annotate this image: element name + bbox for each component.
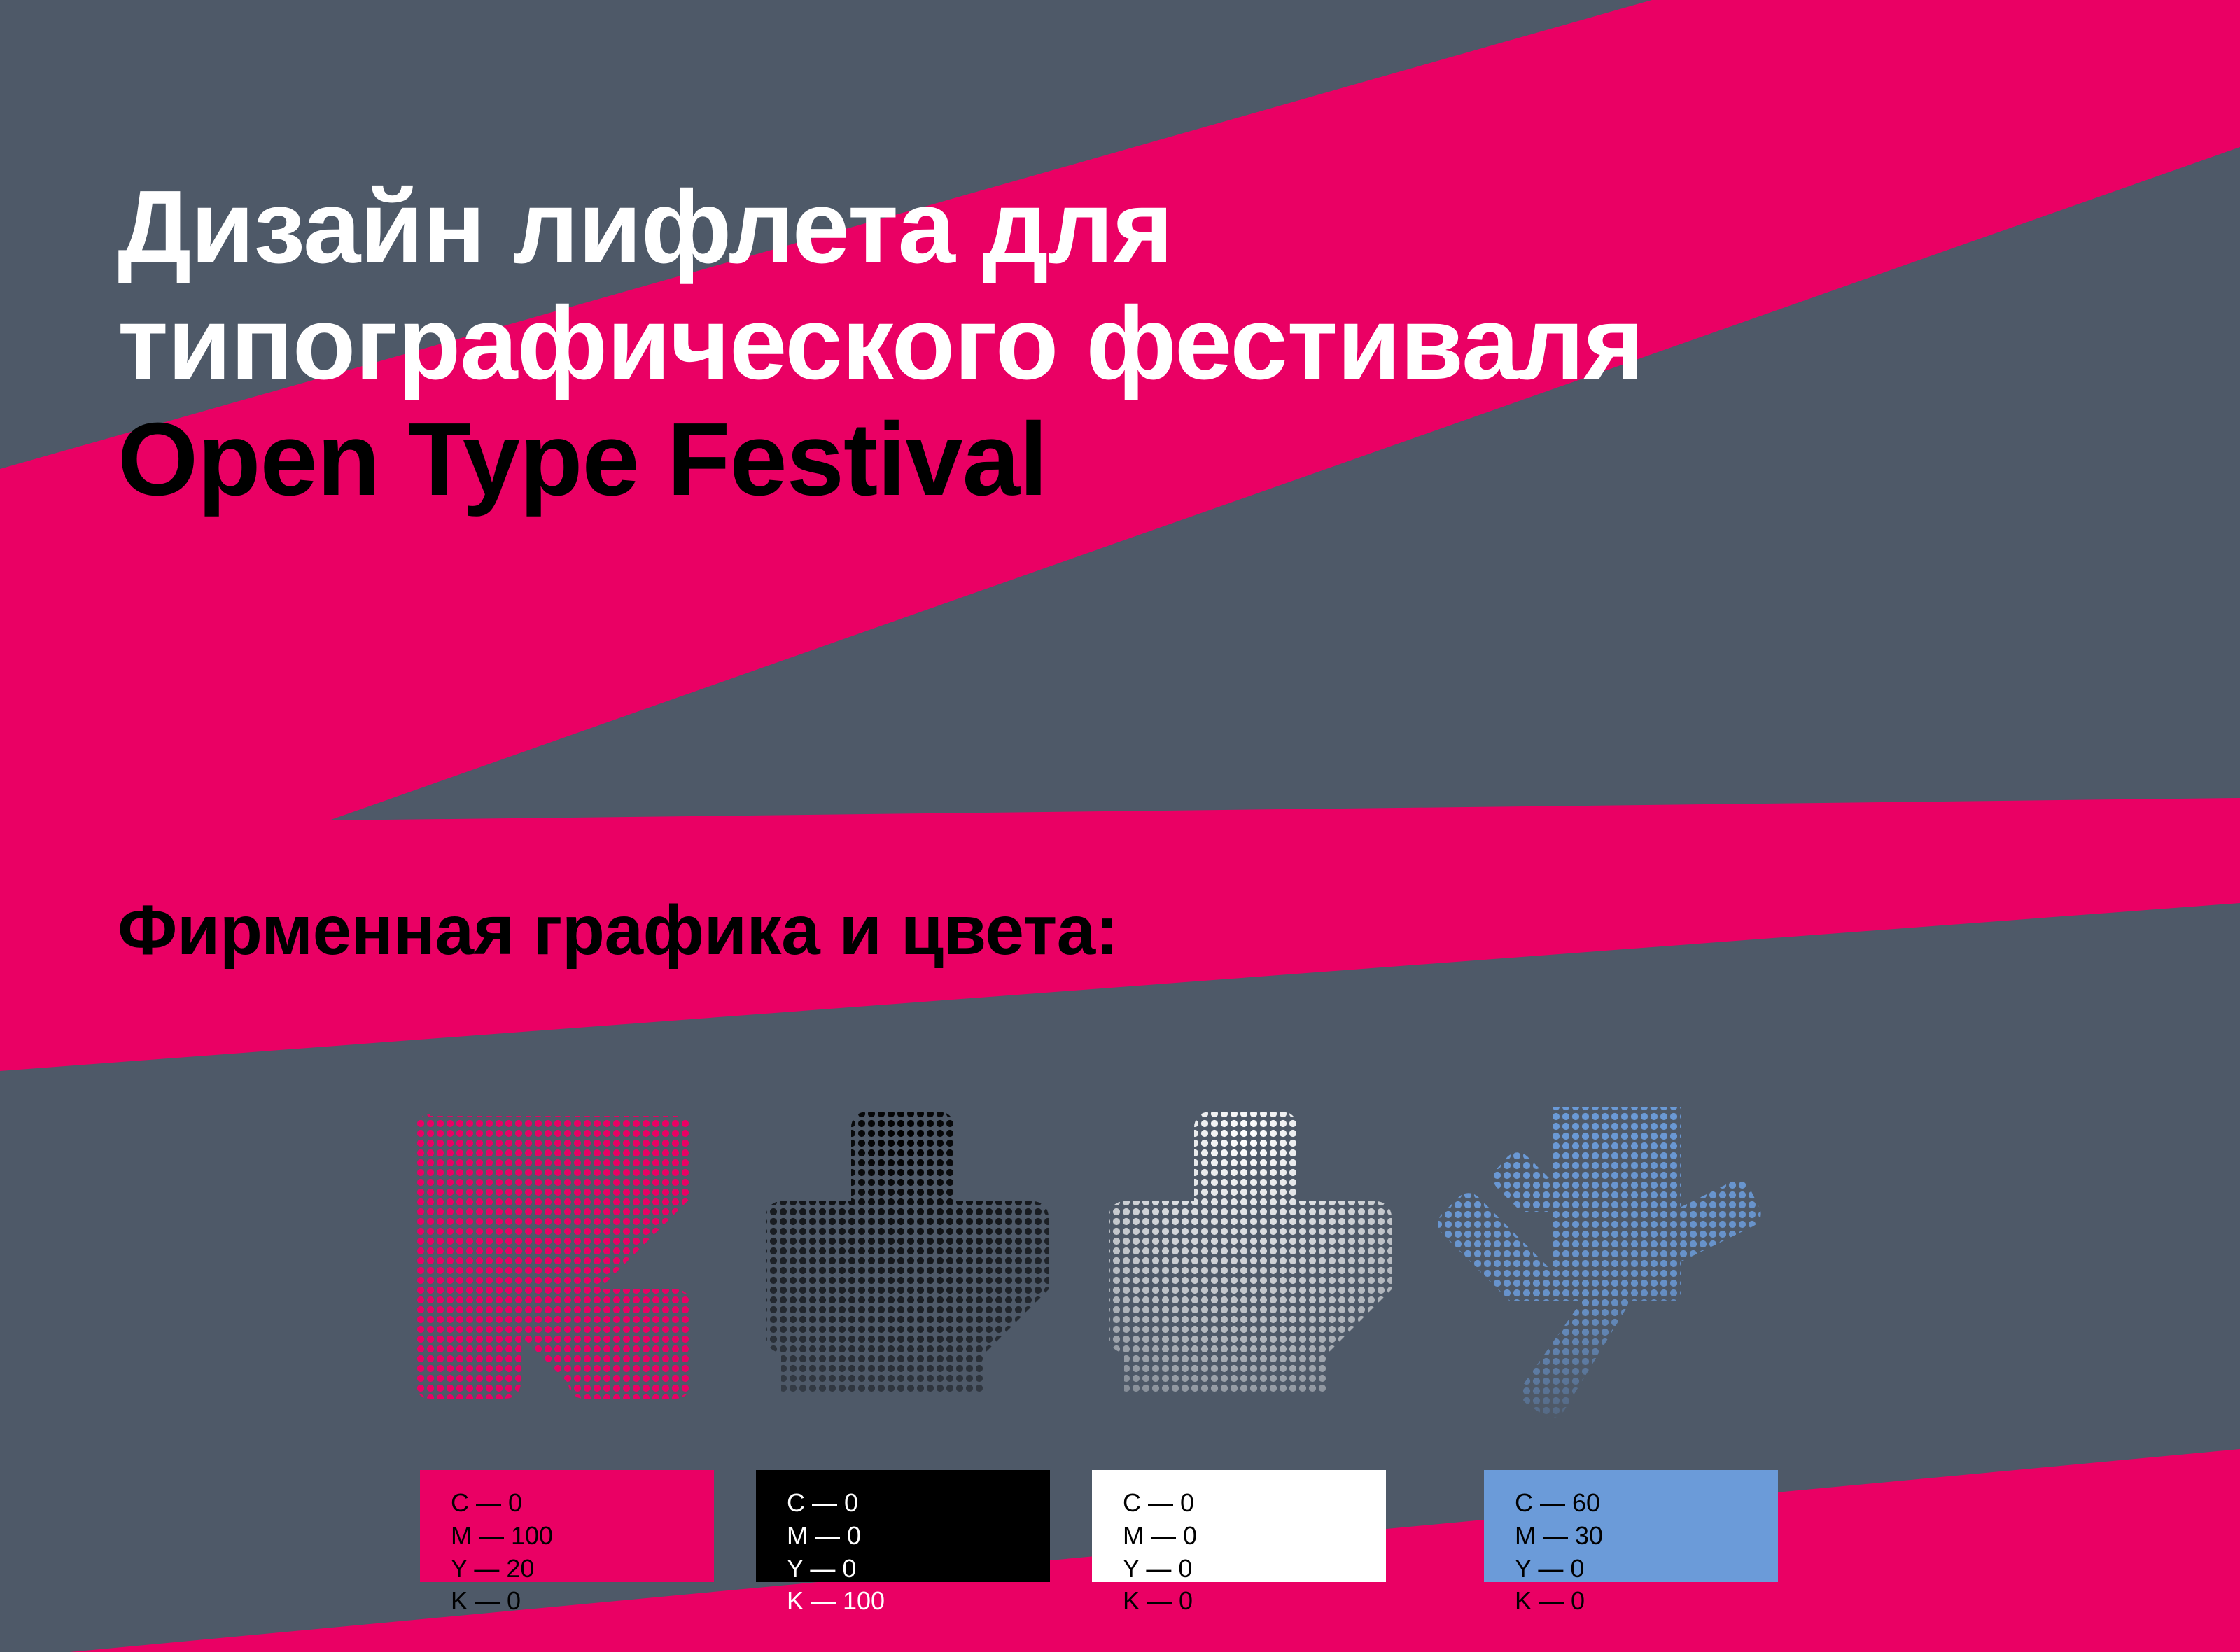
cmyk-line-c: C — 0 xyxy=(1123,1487,1386,1520)
t-glyph-black-dot-fill xyxy=(749,1099,1057,1407)
cmyk-line-k: K — 0 xyxy=(1123,1585,1386,1618)
cmyk-swatch-pink: C — 0 M — 100 Y — 20 K — 0 xyxy=(420,1470,714,1582)
cmyk-line-m: M — 0 xyxy=(1123,1520,1386,1553)
t-glyph-white-dot-fill xyxy=(1092,1099,1400,1407)
cross-glyph-blue-dot-fill xyxy=(1414,1092,1764,1428)
title-line-1: Дизайн лифлета для xyxy=(118,169,1798,286)
brand-graphics-row xyxy=(0,1092,2240,1456)
section-subtitle: Фирменная графика и цвета: xyxy=(118,890,1119,971)
slide-canvas: Дизайн лифлета для типографического фест… xyxy=(0,0,2240,1652)
cmyk-line-m: M — 100 xyxy=(451,1520,714,1553)
cmyk-line-m: M — 30 xyxy=(1515,1520,1778,1553)
title-line-3: Open Type Festival xyxy=(118,402,1798,518)
cmyk-line-m: M — 0 xyxy=(787,1520,1050,1553)
cmyk-line-c: C — 0 xyxy=(787,1487,1050,1520)
cmyk-line-y: Y — 0 xyxy=(787,1553,1050,1585)
t-glyph-halftone-white xyxy=(1092,1099,1400,1407)
cmyk-swatch-black: C — 0 M — 0 Y — 0 K — 100 xyxy=(756,1470,1050,1582)
page-title: Дизайн лифлета для типографического фест… xyxy=(118,169,1798,517)
cmyk-swatch-row: C — 0 M — 100 Y — 20 K — 0 C — 0 M — 0 Y… xyxy=(0,1470,2240,1582)
cmyk-line-k: K — 0 xyxy=(451,1585,714,1618)
cmyk-swatch-white: C — 0 M — 0 Y — 0 K — 0 xyxy=(1092,1470,1386,1582)
cmyk-line-y: Y — 20 xyxy=(451,1553,714,1585)
cmyk-line-y: Y — 0 xyxy=(1123,1553,1386,1585)
k-glyph-dot-fill xyxy=(406,1099,714,1407)
k-glyph-halftone xyxy=(406,1099,714,1407)
cross-glyph-halftone-blue xyxy=(1414,1092,1764,1428)
cmyk-swatch-blue: C — 60 M — 30 Y — 0 K — 0 xyxy=(1484,1470,1778,1582)
cmyk-line-k: K — 0 xyxy=(1515,1585,1778,1618)
cmyk-line-c: C — 60 xyxy=(1515,1487,1778,1520)
title-line-2: типографического фестиваля xyxy=(118,286,1798,402)
cmyk-line-y: Y — 0 xyxy=(1515,1553,1778,1585)
t-glyph-halftone-black xyxy=(749,1099,1057,1407)
cmyk-line-k: K — 100 xyxy=(787,1585,1050,1618)
cmyk-line-c: C — 0 xyxy=(451,1487,714,1520)
